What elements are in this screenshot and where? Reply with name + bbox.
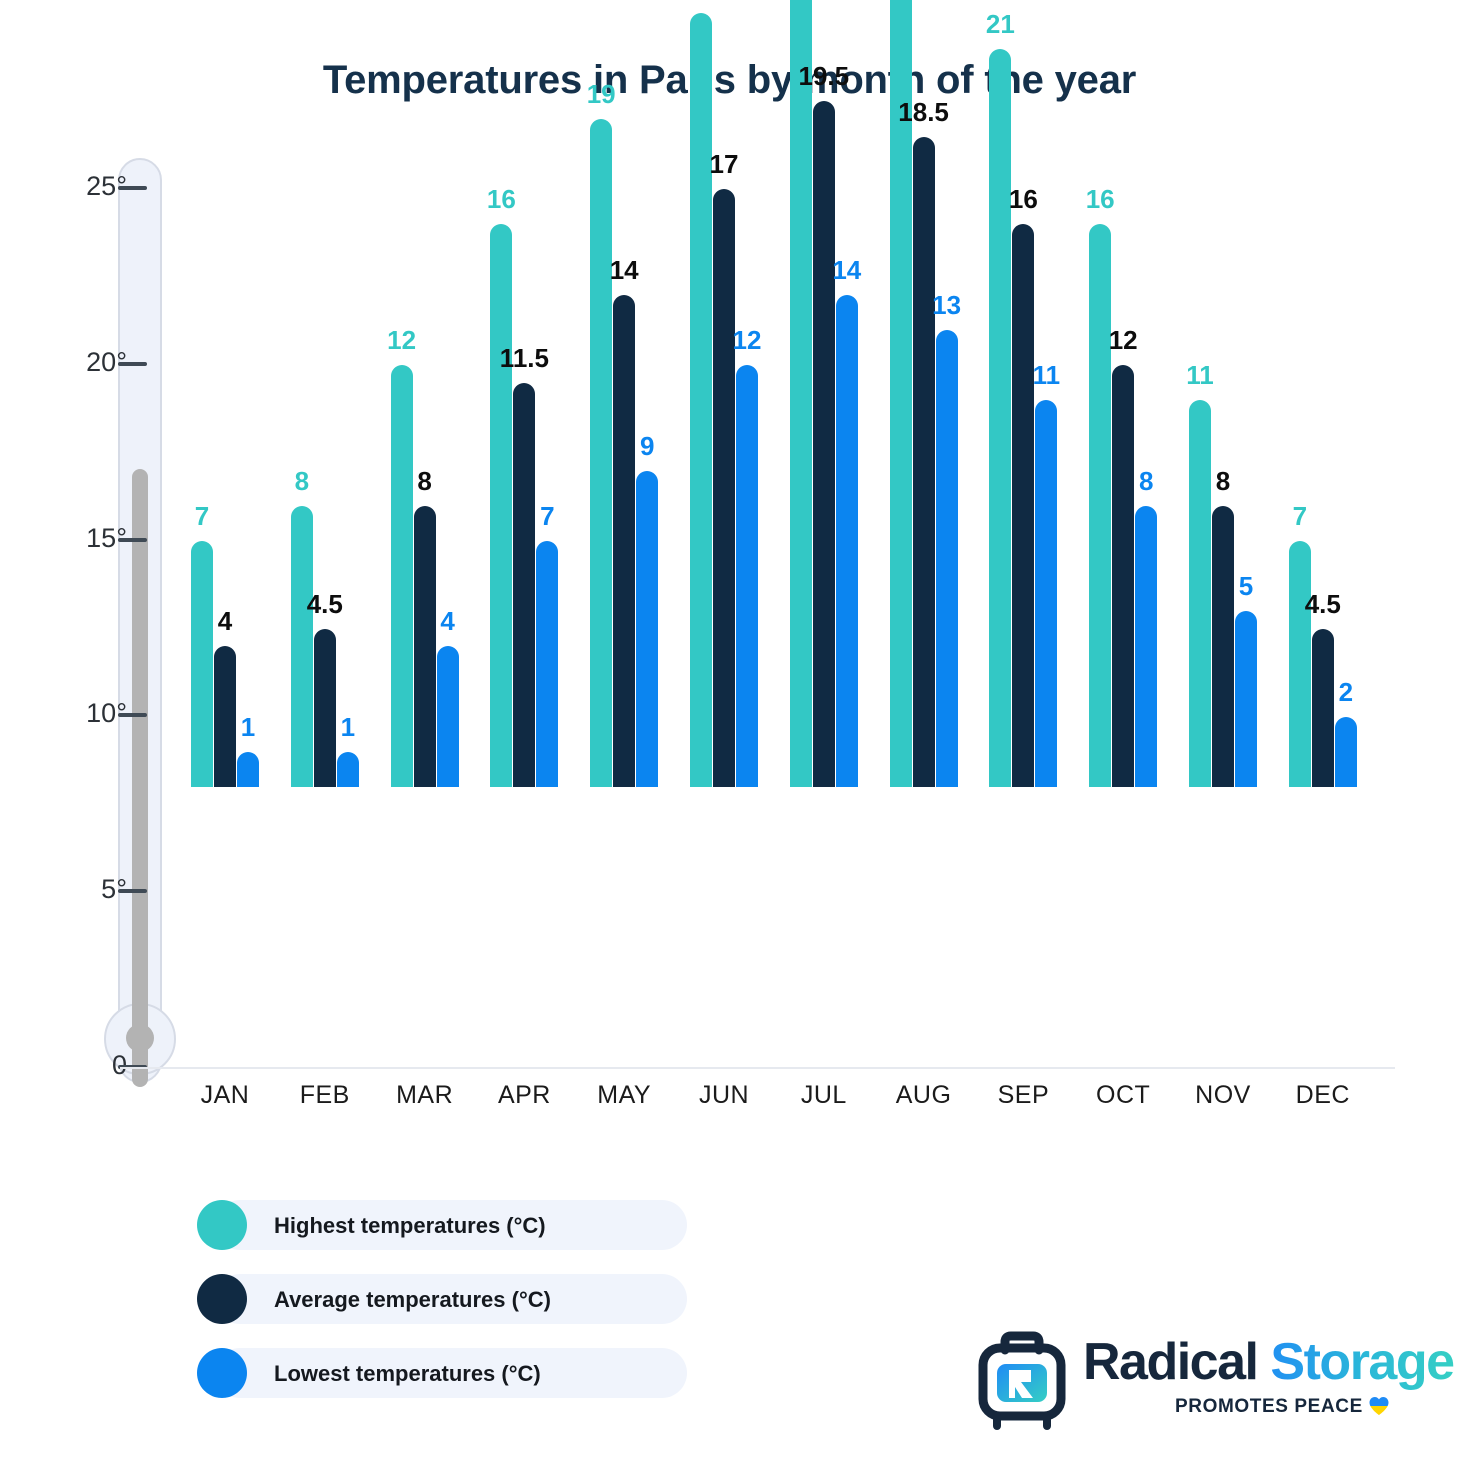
bar-rect: [191, 541, 213, 787]
bar-value-label: 21: [986, 11, 1015, 37]
legend-swatch-icon: [197, 1274, 247, 1324]
bar-value-label: 14: [610, 257, 639, 283]
legend-label: Average temperatures (°C): [274, 1287, 551, 1313]
bar-rect: [713, 189, 735, 787]
bar-value-label: 18.5: [898, 99, 949, 125]
bar-value-label: 4: [440, 608, 454, 634]
chart-legend: Highest temperatures (°C)Average tempera…: [197, 1200, 687, 1422]
bar-rect: [391, 365, 413, 787]
bar-group: 16128: [1089, 0, 1157, 787]
bar-value-label: 14: [832, 257, 861, 283]
logo-tagline: PROMOTES PEACE: [1175, 1396, 1363, 1418]
bar-value-label: 12: [387, 327, 416, 353]
bar-rect: [314, 629, 336, 787]
bar-rect: [690, 13, 712, 787]
ukraine-heart-icon: [1367, 1394, 1391, 1418]
bar-rect: [813, 101, 835, 787]
logo-brand-first: Radical: [1083, 1333, 1257, 1391]
bar-rect: [989, 49, 1011, 787]
bar-rect: [1012, 224, 1034, 787]
suitcase-icon: [975, 1330, 1071, 1430]
bar-value-label: 7: [195, 503, 209, 529]
bar-group: 211611: [989, 0, 1057, 787]
bar-value-label: 8: [1216, 468, 1230, 494]
bar-value-label: 5: [1239, 573, 1253, 599]
bars-layer: 74184.5112841611.57191492217122519.51424…: [0, 0, 1459, 1180]
bar-value-label: 1: [241, 714, 255, 740]
bar-rect: [1189, 400, 1211, 787]
legend-swatch-icon: [197, 1200, 247, 1250]
bar-rect: [613, 295, 635, 787]
bar-rect: [437, 646, 459, 787]
bar-rect: [790, 0, 812, 787]
legend-label: Lowest temperatures (°C): [274, 1361, 541, 1387]
bar-value-label: 12: [1109, 327, 1138, 353]
bar-group: 221712: [690, 0, 758, 787]
bar-value-label: 19: [587, 81, 616, 107]
bar-group: 84.51: [291, 0, 359, 787]
bar-group: 19149: [590, 0, 658, 787]
brand-logo[interactable]: Radical Storage PROMOTES PEACE: [975, 1330, 1420, 1440]
bar-value-label: 7: [1293, 503, 1307, 529]
bar-rect: [736, 365, 758, 787]
bar-group: 2418.513: [890, 0, 958, 787]
legend-item-lowest[interactable]: Lowest temperatures (°C): [197, 1348, 687, 1398]
bar-value-label: 11: [1186, 362, 1214, 388]
bar-rect: [414, 506, 436, 787]
logo-wordmark: Radical Storage: [1083, 1336, 1454, 1388]
bar-group: 741: [191, 0, 259, 787]
bar-rect: [1089, 224, 1111, 787]
bar-value-label: 13: [932, 292, 961, 318]
bar-value-label: 22: [687, 0, 716, 1]
bar-rect: [291, 506, 313, 787]
bar-value-label: 7: [540, 503, 554, 529]
bar-rect: [1112, 365, 1134, 787]
bar-rect: [936, 330, 958, 787]
legend-item-highest[interactable]: Highest temperatures (°C): [197, 1200, 687, 1250]
bar-rect: [214, 646, 236, 787]
bar-value-label: 4.5: [307, 591, 343, 617]
bar-rect: [1135, 506, 1157, 787]
bar-value-label: 4: [218, 608, 232, 634]
bar-rect: [536, 541, 558, 787]
bar-value-label: 17: [710, 151, 739, 177]
legend-item-average[interactable]: Average temperatures (°C): [197, 1274, 687, 1324]
bar-value-label: 9: [640, 433, 654, 459]
bar-rect: [337, 752, 359, 787]
bar-value-label: 4.5: [1305, 591, 1341, 617]
bar-rect: [1035, 400, 1057, 787]
x-axis-label-dec: DEC: [1263, 1081, 1383, 1110]
bar-rect: [1335, 717, 1357, 787]
bar-group: 2519.514: [790, 0, 858, 787]
bar-rect: [513, 383, 535, 787]
logo-brand-second: Storage: [1257, 1333, 1453, 1391]
bar-value-label: 16: [487, 186, 516, 212]
bar-value-label: 19.5: [798, 63, 849, 89]
bar-group: 1185: [1189, 0, 1257, 787]
bar-value-label: 1: [341, 714, 355, 740]
bar-group: 1611.57: [490, 0, 558, 787]
bar-rect: [490, 224, 512, 787]
bar-value-label: 8: [1139, 468, 1153, 494]
bar-value-label: 12: [733, 327, 762, 353]
bar-rect: [237, 752, 259, 787]
bar-rect: [1235, 611, 1257, 787]
bar-rect: [636, 471, 658, 787]
bar-rect: [590, 119, 612, 787]
bar-rect: [1312, 629, 1334, 787]
bar-rect: [836, 295, 858, 787]
legend-label: Highest temperatures (°C): [274, 1213, 546, 1239]
bar-value-label: 16: [1009, 186, 1038, 212]
bar-group: 74.52: [1289, 0, 1357, 787]
bar-value-label: 16: [1086, 186, 1115, 212]
chart-plot-area: 05°10°15°20°25° 74184.5112841611.5719149…: [0, 0, 1459, 1180]
legend-swatch-icon: [197, 1348, 247, 1398]
bar-rect: [1289, 541, 1311, 787]
bar-value-label: 11: [1033, 362, 1061, 388]
bar-group: 1284: [391, 0, 459, 787]
bar-value-label: 2: [1339, 679, 1353, 705]
bar-rect: [1212, 506, 1234, 787]
bar-value-label: 8: [417, 468, 431, 494]
bar-value-label: 11.5: [500, 345, 549, 371]
bar-value-label: 8: [295, 468, 309, 494]
bar-rect: [913, 137, 935, 787]
